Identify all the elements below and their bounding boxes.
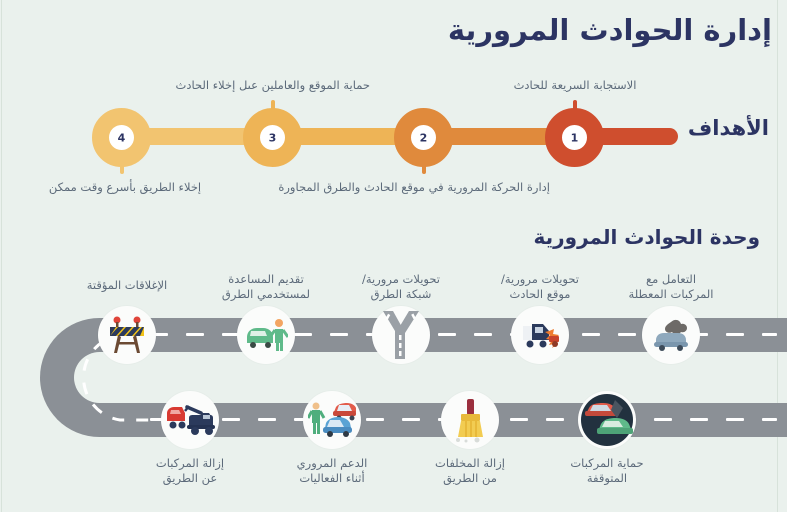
objective-node-1[interactable]: 1	[545, 108, 604, 167]
objective-node-2[interactable]: 2	[394, 108, 453, 167]
tow-truck-icon	[165, 401, 215, 439]
unit-item-broken-down-vehicle-label: التعامل معالمركبات المعطلة	[616, 272, 726, 302]
unit-section-label: وحدة الحوادث المرورية	[0, 225, 760, 249]
unit-item-parked-cars-protection-label: حماية المركباتالمتوقفة	[552, 456, 662, 486]
unit-item-broom-debris[interactable]	[441, 391, 499, 449]
unit-item-road-fork-label: تحويلات مرورية/شبكة الطرق	[346, 272, 456, 302]
objective-node-1-label: الاستجابة السريعة للحادث	[505, 78, 645, 93]
parked-cars-protection-icon	[581, 394, 633, 446]
roadside-assistance-icon	[244, 317, 288, 353]
objective-node-1-number: 1	[562, 131, 587, 144]
unit-item-roadside-assistance[interactable]	[237, 306, 295, 364]
objective-node-4[interactable]: 4	[92, 108, 151, 167]
broken-down-vehicle-icon	[651, 318, 691, 352]
objective-node-4-number: 4	[109, 131, 134, 144]
objective-node-3[interactable]: 3	[243, 108, 302, 167]
broom-debris-icon	[450, 397, 490, 443]
objective-node-4-label: إخلاء الطريق بأسرع وقت ممكن	[30, 180, 220, 195]
unit-item-road-barrier-label: الإغلاقات المؤقتة	[72, 278, 182, 293]
unit-item-tow-truck[interactable]	[161, 391, 219, 449]
objective-node-2-label: إدارة الحركة المرورية في موقع الحادث وال…	[290, 180, 550, 195]
unit-item-road-barrier[interactable]	[98, 306, 156, 364]
infographic-page: إدارة الحوادث المرورية الأهداف 1 الاستجا…	[0, 0, 787, 512]
unit-item-broom-debris-label: إزالة المخلفاتمن الطريق	[415, 456, 525, 486]
unit-item-tow-truck-label: إزالة المركباتعن الطريق	[135, 456, 245, 486]
unit-item-parked-cars-protection[interactable]	[578, 391, 636, 449]
unit-item-truck-crash[interactable]	[511, 306, 569, 364]
objective-node-3-label: حماية الموقع والعاملين عىل إخلاء الحادث	[180, 78, 370, 93]
unit-item-event-traffic-support[interactable]	[303, 391, 361, 449]
objectives-timeline: الأهداف 1 الاستجابة السريعة للحادث 2 إدا…	[0, 70, 787, 205]
unit-item-broken-down-vehicle[interactable]	[642, 306, 700, 364]
road-barrier-icon	[106, 315, 148, 355]
road-fork-icon	[379, 309, 423, 361]
page-title: إدارة الحوادث المرورية	[0, 8, 772, 52]
unit-item-roadside-assistance-label: تقديم المساعدةلمستخدمي الطرق	[211, 272, 321, 302]
objective-node-2-number: 2	[411, 131, 436, 144]
unit-item-road-fork[interactable]	[372, 306, 430, 364]
truck-crash-icon	[519, 318, 561, 352]
objectives-section-label: الأهداف	[688, 116, 769, 140]
objective-node-3-number: 3	[260, 131, 285, 144]
unit-item-event-traffic-support-label: الدعم المروريأثناء الفعاليات	[277, 456, 387, 486]
unit-item-truck-crash-label: تحويلات مرورية/موقع الحادث	[485, 272, 595, 302]
event-traffic-support-icon	[308, 401, 356, 439]
